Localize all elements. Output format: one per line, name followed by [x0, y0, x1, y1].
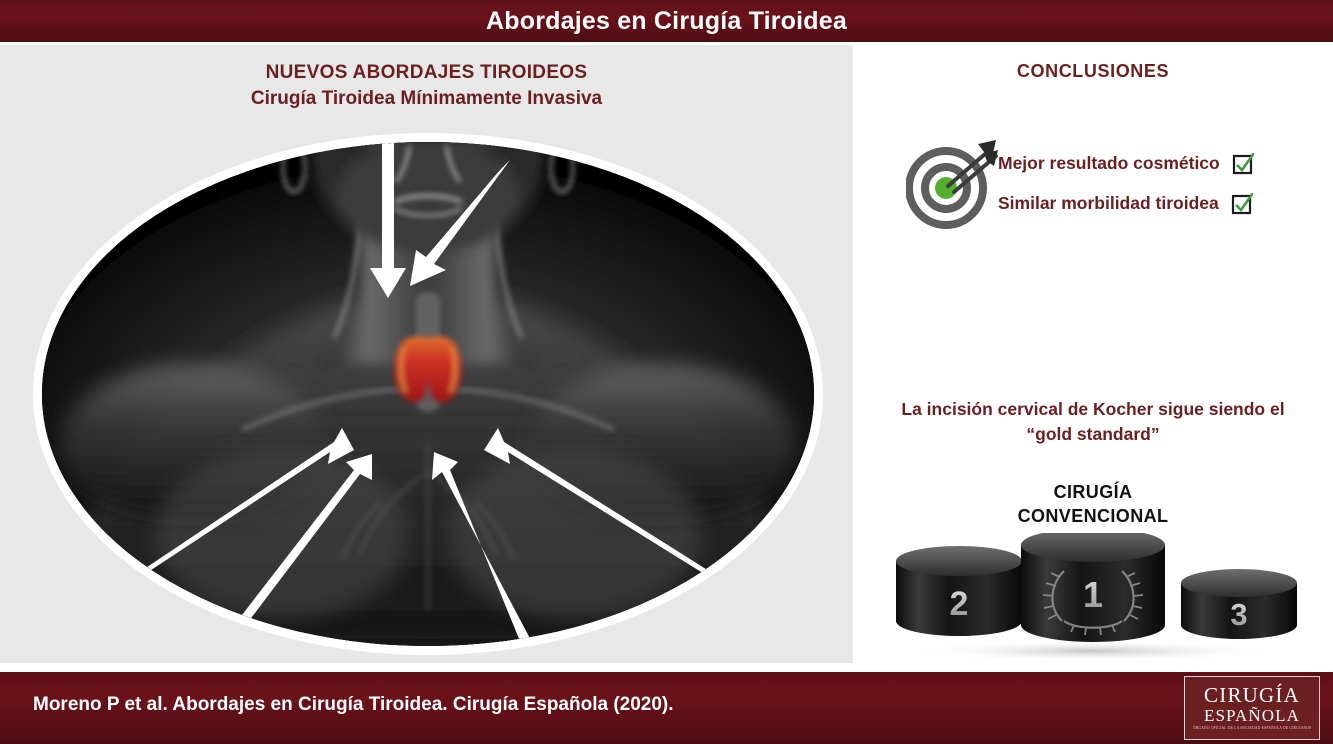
conclusions-title: CONCLUSIONES [853, 61, 1333, 82]
left-heading-primary: NUEVOS ABORDAJES TIROIDEOS [0, 62, 853, 84]
svg-text:2: 2 [950, 585, 969, 623]
journal-logo-subtitle: ÓRGANO OFICIAL DE LA SOCIEDAD ESPAÑOLA D… [1193, 725, 1312, 731]
list-item: Mejor resultado cosmético [998, 143, 1318, 183]
kocher-gold-standard-statement: La incisión cervical de Kocher sigue sie… [871, 397, 1315, 447]
winners-podium-graphic: 3 2 [888, 533, 1298, 658]
svg-text:3: 3 [1230, 597, 1247, 632]
left-heading-secondary: Cirugía Tiroidea Mínimamente Invasiva [0, 88, 853, 110]
target-icon-svg [906, 138, 998, 230]
footer-citation: Moreno P et al. Abordajes en Cirugía Tir… [33, 694, 674, 716]
podium-caption-line-1: CIRUGÍA [853, 480, 1333, 504]
kocher-line-2: “gold standard” [871, 422, 1315, 447]
slide-footer-bar: Moreno P et al. Abordajes en Cirugía Tir… [0, 672, 1333, 744]
podium-place-1: 1 [1021, 533, 1165, 642]
anatomy-figure-oval [33, 133, 823, 655]
svg-text:1: 1 [1083, 574, 1103, 615]
podium-caption-line-2: CONVENCIONAL [853, 504, 1333, 528]
podium-svg: 3 2 [888, 533, 1298, 658]
journal-logo-line-1: CIRUGÍA [1204, 685, 1300, 706]
checkbox-checked-icon [1231, 193, 1251, 213]
podium-place-2: 2 [896, 546, 1022, 636]
conclusions-bullet-list: Mejor resultado cosmético Similar morbil… [998, 143, 1318, 223]
left-content-panel: NUEVOS ABORDAJES TIROIDEOS Cirugía Tiroi… [0, 45, 853, 663]
right-conclusions-panel: CONCLUSIONES Mejor [853, 45, 1333, 663]
journal-logo: CIRUGÍA ESPAÑOLA ÓRGANO OFICIAL DE LA SO… [1184, 676, 1320, 740]
xray-illustration [42, 142, 814, 646]
bullet-label-morbidity: Similar morbilidad tiroidea [998, 193, 1219, 214]
kocher-line-1: La incisión cervical de Kocher sigue sie… [871, 397, 1315, 422]
list-item: Similar morbilidad tiroidea [998, 183, 1318, 223]
target-with-arrows-icon [906, 138, 998, 230]
podium-caption: CIRUGÍA CONVENCIONAL [853, 480, 1333, 528]
slide-header-bar: Abordajes en Cirugía Tiroidea [0, 0, 1333, 42]
checkbox-checked-icon [1232, 153, 1252, 173]
podium-place-3: 3 [1181, 569, 1297, 639]
slide-root: Abordajes en Cirugía Tiroidea NUEVOS ABO… [0, 0, 1333, 744]
page-title: Abordajes en Cirugía Tiroidea [486, 7, 847, 36]
anatomy-xray-image [42, 142, 814, 646]
bullet-label-cosmetic: Mejor resultado cosmético [998, 153, 1220, 174]
journal-logo-line-2: ESPAÑOLA [1204, 706, 1300, 725]
